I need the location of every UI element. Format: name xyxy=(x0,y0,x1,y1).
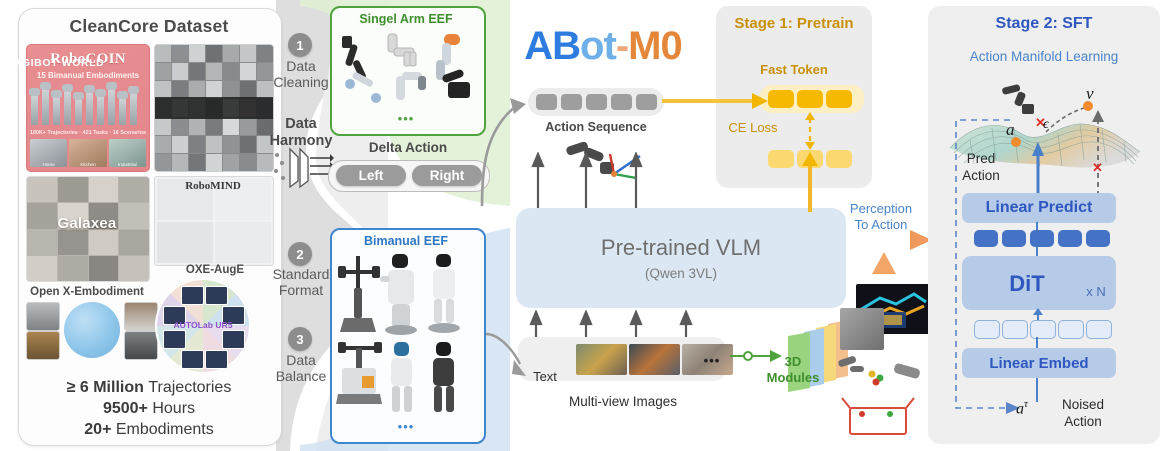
single-arm-more-dots: ••• xyxy=(330,113,482,123)
3d-modules-label: 3D Modules xyxy=(752,354,834,386)
multiview-more-dots: ••• xyxy=(700,353,724,367)
bimanual-more-dots: ••• xyxy=(330,421,482,431)
vlm-subtitle: (Qwen 3VL) xyxy=(516,263,846,283)
oxe-thumb xyxy=(26,331,60,360)
ce-loss-arrow xyxy=(802,112,818,150)
predicted-token-cell xyxy=(768,150,794,168)
robocoin-scene-label: Home xyxy=(30,162,67,167)
autolab-ur5-label: AUTOLab UR5 xyxy=(155,318,251,332)
arrow-to-action-sequence xyxy=(476,90,536,208)
bimanual-robot-illustrations xyxy=(336,250,478,418)
brand-part-2: ot xyxy=(580,24,616,69)
stat-value: ≥ 6 Million xyxy=(67,379,144,397)
oxe-auge-label: OXE-AugE xyxy=(160,262,270,278)
tau-symbol: τ xyxy=(1024,398,1028,410)
robocoin-scene-thumbs: Home Kitchen Industrial xyxy=(30,139,146,167)
oxe-thumb xyxy=(26,302,60,331)
linear-predict-block: Linear Predict xyxy=(962,193,1116,223)
delta-action-title: Delta Action xyxy=(338,138,478,156)
velocity-symbol: v xyxy=(1086,84,1102,104)
action-token xyxy=(611,94,632,110)
fast-token-cell xyxy=(797,90,823,108)
dit-output-token xyxy=(1002,230,1026,247)
stat-unit: Embodiments xyxy=(116,421,214,439)
noised-action-symbol: aτ xyxy=(1016,398,1044,420)
data-harmony-funnel-icon xyxy=(272,145,334,189)
brand-part-1: AB xyxy=(524,24,580,69)
data-harmony-label: Data Harmony xyxy=(270,116,332,150)
depth-image xyxy=(840,308,884,350)
oxe-thumb xyxy=(124,302,158,331)
perception-to-action-label: Perception To Action xyxy=(838,200,924,234)
open-x-embodiment-label: Open X-Embodiment xyxy=(22,284,152,300)
arrow-actionseq-to-fasttoken xyxy=(662,92,770,114)
dit-output-token xyxy=(1058,230,1082,247)
agibot-world-label: AGIBOT WORLD xyxy=(0,52,118,74)
stat-unit: Trajectories xyxy=(148,379,231,397)
action-token xyxy=(561,94,582,110)
arrow-vlm-to-stage1 xyxy=(800,150,820,212)
embed-token xyxy=(1002,320,1028,339)
step-3-label: Data Balance xyxy=(268,352,334,384)
stat-hours: 9500+ Hours xyxy=(18,398,280,420)
predicted-token-cell xyxy=(826,150,852,168)
robocoin-stats: 180K+ Trajectories · 421 Tasks · 16 Scen… xyxy=(27,127,149,138)
single-arm-robot-illustrations xyxy=(336,28,478,114)
arrow-linearpredict-to-manifold xyxy=(1030,140,1046,196)
a-symbol: a xyxy=(1016,400,1024,417)
embed-token xyxy=(1058,320,1084,339)
brand-dash: - xyxy=(616,24,628,69)
action-sequence-label: Action Sequence xyxy=(518,119,674,135)
dit-output-token xyxy=(974,230,998,247)
stage1-title: Stage 1: Pretrain xyxy=(716,12,872,34)
galaxea-label: Galaxea xyxy=(26,212,148,234)
action-token xyxy=(586,94,607,110)
vlm-output-arrows xyxy=(528,152,688,210)
perception-to-action-arrow xyxy=(828,228,938,278)
linear-embed-block: Linear Embed xyxy=(962,348,1116,378)
stat-trajectories: ≥ 6 Million Trajectories xyxy=(18,377,280,399)
stat-unit: Hours xyxy=(152,400,195,418)
stat-embodiments: 20+ Embodiments xyxy=(18,419,280,441)
multiview-image xyxy=(629,344,680,375)
multiview-images-label: Multi-view Images xyxy=(520,392,726,410)
step-1-badge: 1 xyxy=(288,33,312,57)
multiview-image xyxy=(576,344,627,375)
step-2-label: Standard Format xyxy=(268,266,334,298)
delta-action-left-pill[interactable]: Left xyxy=(336,165,406,186)
dataset-panel-title: CleanCore Dataset xyxy=(18,12,280,40)
action-token xyxy=(536,94,557,110)
single-arm-eef-title: Singel Arm EEF xyxy=(330,10,482,28)
epsilon-symbol: ϵ xyxy=(1043,117,1059,135)
brand-part-3: M0 xyxy=(628,24,682,69)
agibot-world-dataset-tile xyxy=(154,44,274,172)
stat-value: 9500+ xyxy=(103,400,148,418)
robomind-label: RoboMIND xyxy=(154,178,272,194)
text-input-label: Text xyxy=(524,368,566,384)
step-1-label: Data Cleaning xyxy=(272,58,330,90)
robocoin-robot-row xyxy=(29,81,147,125)
fast-token-cell xyxy=(768,90,794,108)
dit-output-token xyxy=(1030,230,1054,247)
arrow-to-inputs xyxy=(484,330,530,380)
embed-token xyxy=(1086,320,1112,339)
ce-loss-label: CE Loss xyxy=(718,118,788,136)
step-2-badge: 2 xyxy=(288,242,312,266)
stage2-title: Stage 2: SFT xyxy=(928,12,1160,36)
oxe-thumb xyxy=(124,331,158,360)
stat-value: 20+ xyxy=(84,421,111,439)
robocoin-scene-label: Kitchen xyxy=(69,162,106,167)
fast-token-label: Fast Token xyxy=(716,60,872,78)
noised-action-label: Noised Action xyxy=(1050,396,1116,430)
dit-label: DiT xyxy=(962,270,1092,298)
page-title: ABot-M0 xyxy=(498,22,708,70)
globe-icon xyxy=(64,302,120,358)
action-token xyxy=(636,94,657,110)
dit-output-token xyxy=(1086,230,1110,247)
action-manifold-learning-label: Action Manifold Learning xyxy=(928,46,1160,66)
delta-action-right-pill[interactable]: Right xyxy=(412,165,482,186)
step-3-badge: 3 xyxy=(288,327,312,351)
vlm-title: Pre-trained VLM xyxy=(516,233,846,263)
x-marker: ✕ xyxy=(1092,160,1103,176)
dit-repeat-label: x N xyxy=(1082,282,1110,300)
bimanual-eef-title: Bimanual EEF xyxy=(330,232,482,250)
embed-token xyxy=(974,320,1000,339)
fast-token-cell xyxy=(826,90,852,108)
robocoin-scene-label: Industrial xyxy=(109,162,146,167)
gripper-illustrations xyxy=(836,352,936,442)
agibot-label-band xyxy=(155,97,273,119)
